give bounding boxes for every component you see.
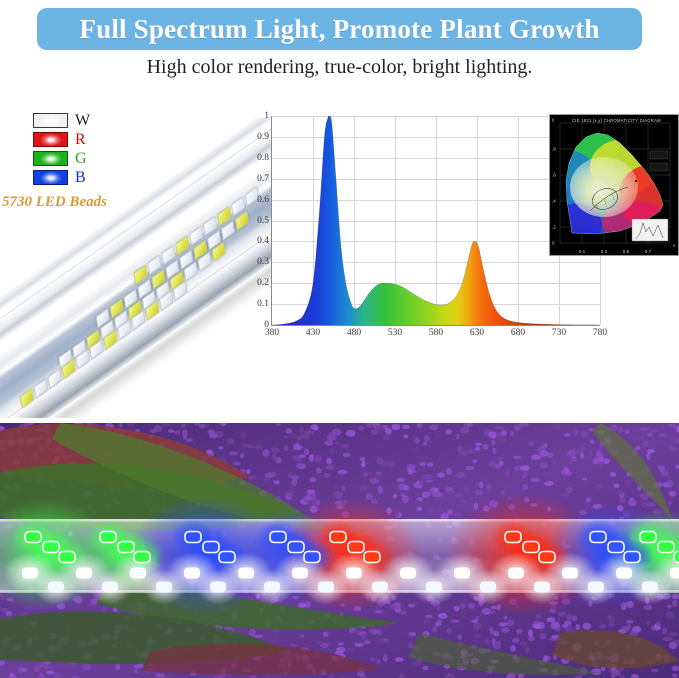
gravel-pebble [299, 454, 305, 457]
gravel-pebble [625, 429, 630, 434]
gravel-pebble [597, 446, 603, 452]
gravel-pebble [458, 445, 462, 452]
gravel-pebble [599, 624, 607, 629]
gravel-pebble [381, 460, 391, 466]
gravel-pebble [647, 433, 653, 438]
gravel-pebble [503, 616, 508, 620]
gravel-pebble [289, 433, 298, 439]
gravel-pebble [174, 431, 181, 435]
gravel-pebble [371, 455, 381, 459]
gravel-pebble [299, 426, 304, 433]
led-dot [264, 582, 280, 593]
gravel-pebble [374, 474, 380, 480]
gravel-pebble [558, 611, 567, 617]
led-dot [134, 552, 150, 563]
x-tick-label: 780 [593, 328, 607, 338]
product-photo [0, 423, 679, 678]
gravel-pebble [425, 479, 433, 482]
gravel-pebble [497, 457, 504, 460]
gravel-pebble [291, 479, 297, 486]
x-tick-label: 430 [306, 328, 320, 338]
gravel-pebble [435, 425, 439, 429]
gravel-pebble [486, 483, 491, 490]
gravel-pebble [241, 432, 247, 439]
gravel-pebble [505, 470, 509, 476]
gravel-pebble [168, 430, 175, 433]
gravel-pebble [496, 641, 502, 646]
gravel-pebble [473, 634, 481, 638]
gravel-pebble [82, 664, 91, 670]
led-dot [454, 568, 470, 579]
cie-x-tick: 0.7 [645, 249, 651, 254]
gravel-pebble [1, 608, 7, 612]
gravel-pebble [307, 489, 315, 494]
gravel-pebble [232, 462, 240, 465]
gravel-pebble [668, 437, 676, 443]
gravel-pebble [286, 489, 294, 497]
gravel-pebble [155, 674, 165, 677]
gravel-pebble [669, 446, 678, 451]
gravel-pebble [347, 648, 354, 652]
gravel-pebble [539, 462, 548, 469]
gravel-pebble [423, 474, 433, 479]
led-dot [156, 582, 172, 593]
gravel-pebble [88, 603, 94, 607]
gravel-pebble [183, 435, 187, 439]
gravel-pebble [419, 478, 424, 485]
gravel-pebble [393, 494, 398, 499]
gravel-pebble [264, 476, 270, 481]
led-dot [304, 552, 320, 563]
gravel-pebble [416, 507, 422, 512]
gravel-pebble [437, 606, 442, 611]
gravel-pebble [240, 453, 244, 459]
gravel-pebble [516, 629, 522, 634]
led-dot [670, 568, 679, 579]
gravel-pebble [561, 493, 570, 497]
gravel-pebble [627, 624, 632, 630]
gravel-pebble [513, 456, 522, 459]
gravel-pebble [1, 669, 6, 674]
gravel-pebble [498, 622, 507, 626]
gravel-pebble [402, 425, 410, 429]
gravel-pebble [672, 600, 678, 607]
led-dot [219, 552, 235, 563]
gravel-pebble [533, 623, 541, 629]
gravel-pebble [626, 481, 632, 487]
y-tick-label: 0.4 [257, 236, 269, 246]
cie-side-legend [650, 151, 668, 171]
gravel-pebble [378, 486, 383, 494]
gravel-pebble [419, 462, 426, 467]
gravel-pebble [435, 622, 440, 627]
gravel-pebble [610, 472, 616, 477]
gravel-pebble [471, 619, 478, 623]
gravel-pebble [310, 424, 318, 430]
gravel-pebble [186, 439, 193, 442]
gravel-pebble [668, 632, 678, 636]
gravel-pebble [271, 636, 279, 643]
gravel-pebble [351, 631, 361, 636]
gravel-pebble [346, 430, 356, 437]
gravel-pebble [363, 473, 368, 478]
gravel-pebble [667, 605, 672, 609]
gravel-pebble [484, 639, 491, 644]
gravel-pebble [570, 440, 575, 446]
led-dot [59, 552, 75, 563]
gravel-pebble [333, 484, 339, 490]
led-dot [674, 552, 679, 563]
y-tick-label: 0.3 [257, 257, 269, 267]
gravel-pebble [590, 440, 594, 444]
x-tick-label: 730 [552, 328, 566, 338]
led-dot [534, 582, 550, 593]
gravel-pebble [425, 614, 433, 618]
gravel-pebble [450, 620, 459, 623]
gravel-pebble [492, 638, 496, 645]
x-tick-label: 580 [429, 328, 443, 338]
gravel-pebble [249, 629, 256, 636]
gravel-pebble [298, 603, 306, 608]
gravel-pebble [454, 494, 462, 498]
gravel-pebble [662, 471, 669, 477]
gravel-pebble [295, 446, 303, 450]
gravel-pebble [324, 440, 333, 445]
gravel-pebble [273, 480, 279, 484]
gravel-pebble [333, 493, 338, 496]
y-tick-label: 0.8 [257, 153, 269, 163]
gravel-pebble [672, 673, 678, 677]
led-dot [364, 552, 380, 563]
x-tick-label: 680 [511, 328, 525, 338]
led-dot [624, 552, 640, 563]
gravel-pebble [343, 453, 351, 457]
gravel-pebble [408, 642, 413, 648]
gravel-pebble [531, 455, 541, 460]
led-dot [372, 582, 388, 593]
gravel-pebble [554, 628, 561, 632]
gravel-pebble [572, 615, 577, 621]
led-dot [400, 568, 416, 579]
led-bar-illustration [0, 118, 286, 418]
gravel-pebble [494, 631, 500, 636]
gravel-pebble [464, 487, 469, 493]
gravel-pebble [364, 641, 371, 645]
cie-y-tick: .6 [552, 173, 556, 178]
gravel-pebble [446, 468, 452, 475]
cie-gamut-shape [550, 115, 678, 255]
gravel-pebble [586, 498, 591, 503]
led-dot [590, 532, 606, 543]
gravel-pebble [267, 472, 277, 478]
gravel-pebble [566, 487, 573, 493]
gravel-pebble [629, 497, 634, 501]
gravel-pebble [482, 444, 488, 450]
gravel-pebble [607, 616, 615, 622]
y-tick-label: 0.5 [257, 216, 269, 226]
gravel-pebble [46, 671, 54, 675]
led-dot [22, 568, 38, 579]
gravel-pebble [562, 464, 569, 468]
gravel-pebble [650, 429, 659, 433]
page-title: Full Spectrum Light, Promote Plant Growt… [79, 14, 599, 45]
gravel-pebble [283, 445, 288, 451]
subtitle-text: High color rendering, true-color, bright… [0, 56, 679, 79]
led-dot [346, 568, 362, 579]
gravel-pebble [395, 657, 404, 662]
led-dot [48, 582, 64, 593]
gravel-pebble [227, 439, 234, 444]
gravel-pebble [613, 484, 620, 488]
gravel-pebble [397, 478, 406, 482]
gravel-pebble [376, 659, 380, 665]
gravel-pebble [411, 447, 419, 453]
gravel-pebble [592, 486, 599, 489]
gravel-pebble [5, 611, 12, 617]
gravel-pebble [663, 637, 673, 641]
gravel-pebble [547, 617, 556, 622]
gravel-pebble [656, 621, 661, 626]
gravel-pebble [305, 496, 314, 500]
gravel-pebble [644, 605, 653, 610]
gravel-pebble [643, 441, 648, 447]
gravel-pebble [528, 636, 535, 641]
gravel-pebble [495, 426, 505, 430]
gravel-pebble [574, 429, 579, 436]
gravel-pebble [337, 470, 347, 474]
gravel-pebble [402, 485, 409, 491]
gravel-pebble [460, 499, 467, 503]
gravel-pebble [651, 669, 658, 673]
gravel-pebble [642, 502, 647, 507]
gravel-pebble [391, 424, 400, 430]
gravel-pebble [412, 435, 417, 438]
gravel-pebble [34, 665, 40, 672]
gravel-pebble [437, 472, 444, 478]
gravel-pebble [553, 459, 557, 466]
gravel-pebble [582, 623, 591, 630]
cie-mini-inset [632, 219, 668, 241]
gravel-pebble [423, 442, 427, 446]
gravel-pebble [475, 490, 484, 496]
led-dot [539, 552, 555, 563]
gravel-pebble [181, 423, 186, 428]
y-tick-label: 0.7 [257, 174, 269, 184]
gravel-pebble [307, 500, 312, 505]
gravel-pebble [429, 488, 435, 494]
led-dot [480, 582, 496, 593]
gravel-pebble [134, 670, 138, 674]
led-dot [505, 532, 521, 543]
gravel-pebble [207, 430, 215, 435]
gravel-pebble [522, 484, 528, 489]
led-dot [658, 542, 674, 553]
gravel-pebble [646, 620, 651, 625]
gravel-pebble [667, 480, 674, 487]
gravel-pebble [510, 431, 514, 436]
gravel-pebble [383, 655, 388, 662]
led-dot [330, 532, 346, 543]
x-tick-label: 480 [347, 328, 361, 338]
gravel-pebble [115, 663, 120, 671]
led-dot [288, 542, 304, 553]
photo-scene [0, 423, 679, 678]
led-dot [184, 568, 200, 579]
cie-title: CIE 1931 (x,y) CHROMATICITY DIAGRAM [572, 118, 661, 123]
gravel-pebble [417, 497, 424, 501]
gravel-pebble [520, 641, 528, 646]
gravel-pebble [646, 452, 650, 460]
gravel-pebble [569, 458, 578, 462]
gravel-pebble [609, 621, 615, 626]
gravel-pebble [489, 627, 493, 634]
gravel-pebble [315, 455, 322, 462]
gravel-pebble [580, 447, 586, 452]
gravel-pebble [43, 665, 52, 669]
gravel-pebble [296, 463, 306, 469]
gravel-pebble [517, 470, 524, 477]
led-dot [210, 582, 226, 593]
gravel-pebble [580, 480, 589, 488]
gravel-pebble [422, 492, 430, 498]
gravel-pebble [404, 434, 409, 438]
led-dot [100, 532, 116, 543]
gravel-pebble [639, 428, 649, 432]
gravel-pebble [619, 496, 626, 503]
gravel-pebble [511, 645, 516, 652]
gravel-pebble [242, 444, 252, 448]
gravel-pebble [326, 465, 335, 469]
led-dot [608, 542, 624, 553]
gravel-pebble [456, 433, 460, 439]
gravel-pebble [615, 489, 624, 495]
gravel-pebble [567, 614, 572, 621]
gravel-pebble [315, 641, 324, 645]
gravel-pebble [465, 466, 475, 470]
led-dot [562, 568, 578, 579]
gravel-pebble [473, 623, 482, 630]
gravel-pebble [370, 658, 375, 661]
gravel-pebble [199, 424, 205, 428]
gravel-pebble [408, 469, 414, 475]
cie-y-tick: 0 [552, 241, 555, 246]
gravel-pebble [475, 447, 481, 452]
gravel-pebble [399, 610, 407, 614]
cie-x-tick: 0.3 [601, 249, 607, 254]
led-dot [185, 532, 201, 543]
gravel-pebble [358, 426, 365, 431]
gravel-pebble [262, 449, 269, 457]
gravel-pebble [499, 437, 507, 442]
x-tick-label: 530 [388, 328, 402, 338]
gravel-pebble [270, 447, 280, 453]
gravel-pebble [475, 443, 483, 446]
gravel-pebble [562, 624, 568, 627]
gravel-pebble [520, 423, 529, 427]
gravel-pebble [299, 634, 304, 637]
led-dot [426, 582, 442, 593]
gravel-pebble [499, 460, 504, 466]
gravel-pebble [355, 643, 364, 647]
gravel-pebble [446, 429, 452, 434]
gravel-pebble [657, 465, 664, 469]
led-dot [130, 568, 146, 579]
gravel-pebble [11, 674, 16, 678]
gravel-pebble [309, 477, 316, 482]
x-tick-label: 380 [265, 328, 279, 338]
gravel-pebble [540, 450, 548, 456]
gravel-pebble [438, 613, 448, 619]
gravel-pebble [530, 478, 540, 482]
spectrum-chart: 00.10.20.30.40.50.60.70.80.91 3804304805… [252, 112, 600, 344]
gravel-pebble [525, 646, 529, 653]
led-dot [270, 532, 286, 543]
gravel-pebble [432, 626, 437, 633]
gravel-pebble [646, 502, 655, 506]
gravel-pebble [253, 635, 263, 639]
gravel-pebble [575, 624, 580, 630]
gravel-pebble [447, 509, 453, 515]
cie-y-axis-label: y [552, 117, 554, 122]
gravel-pebble [612, 669, 621, 676]
cie-y-tick: .4 [552, 199, 556, 204]
gravel-pebble [561, 469, 565, 475]
gravel-pebble [466, 449, 475, 454]
gravel-pebble [489, 461, 496, 467]
gravel-pebble [580, 431, 589, 437]
gravel-pebble [327, 434, 336, 441]
title-banner: Full Spectrum Light, Promote Plant Growt… [37, 8, 642, 50]
gravel-pebble [360, 457, 366, 461]
gravel-pebble [361, 632, 366, 640]
gravel-pebble [357, 671, 362, 678]
gravel-pebble [290, 643, 297, 647]
gravel-pebble [335, 441, 341, 444]
gravel-pebble [512, 638, 520, 643]
gravel-pebble [551, 635, 559, 639]
gravel-pebble [360, 485, 368, 491]
gravel-pebble [460, 427, 469, 434]
led-dot [43, 542, 59, 553]
gravel-pebble [468, 603, 475, 609]
gravel-pebble [658, 434, 666, 438]
cie-x-tick: 0.1 [579, 249, 585, 254]
cie-x-axis-label: x [673, 243, 675, 248]
gravel-pebble [316, 468, 321, 474]
gravel-pebble [595, 453, 604, 457]
y-tick-label: 0.1 [257, 299, 269, 309]
gravel-pebble [376, 629, 381, 636]
gravel-pebble [565, 472, 573, 476]
gravel-pebble [479, 482, 483, 489]
gravel-pebble [588, 435, 594, 439]
gravel-pebble [324, 473, 330, 478]
gravel-pebble [662, 628, 668, 634]
gravel-pebble [408, 604, 415, 608]
gravel-pebble [564, 433, 571, 437]
led-dot [642, 582, 658, 593]
gravel-pebble [424, 435, 430, 441]
gravel-pebble [382, 610, 389, 617]
gravel-pebble [447, 628, 452, 634]
y-tick-label: 0.6 [257, 195, 269, 205]
gravel-pebble [229, 451, 239, 456]
gravel-pebble [528, 630, 533, 637]
gravel-pebble [101, 607, 108, 612]
gravel-pebble [618, 427, 622, 433]
gravel-pebble [338, 642, 344, 645]
gravel-pebble [412, 660, 422, 666]
